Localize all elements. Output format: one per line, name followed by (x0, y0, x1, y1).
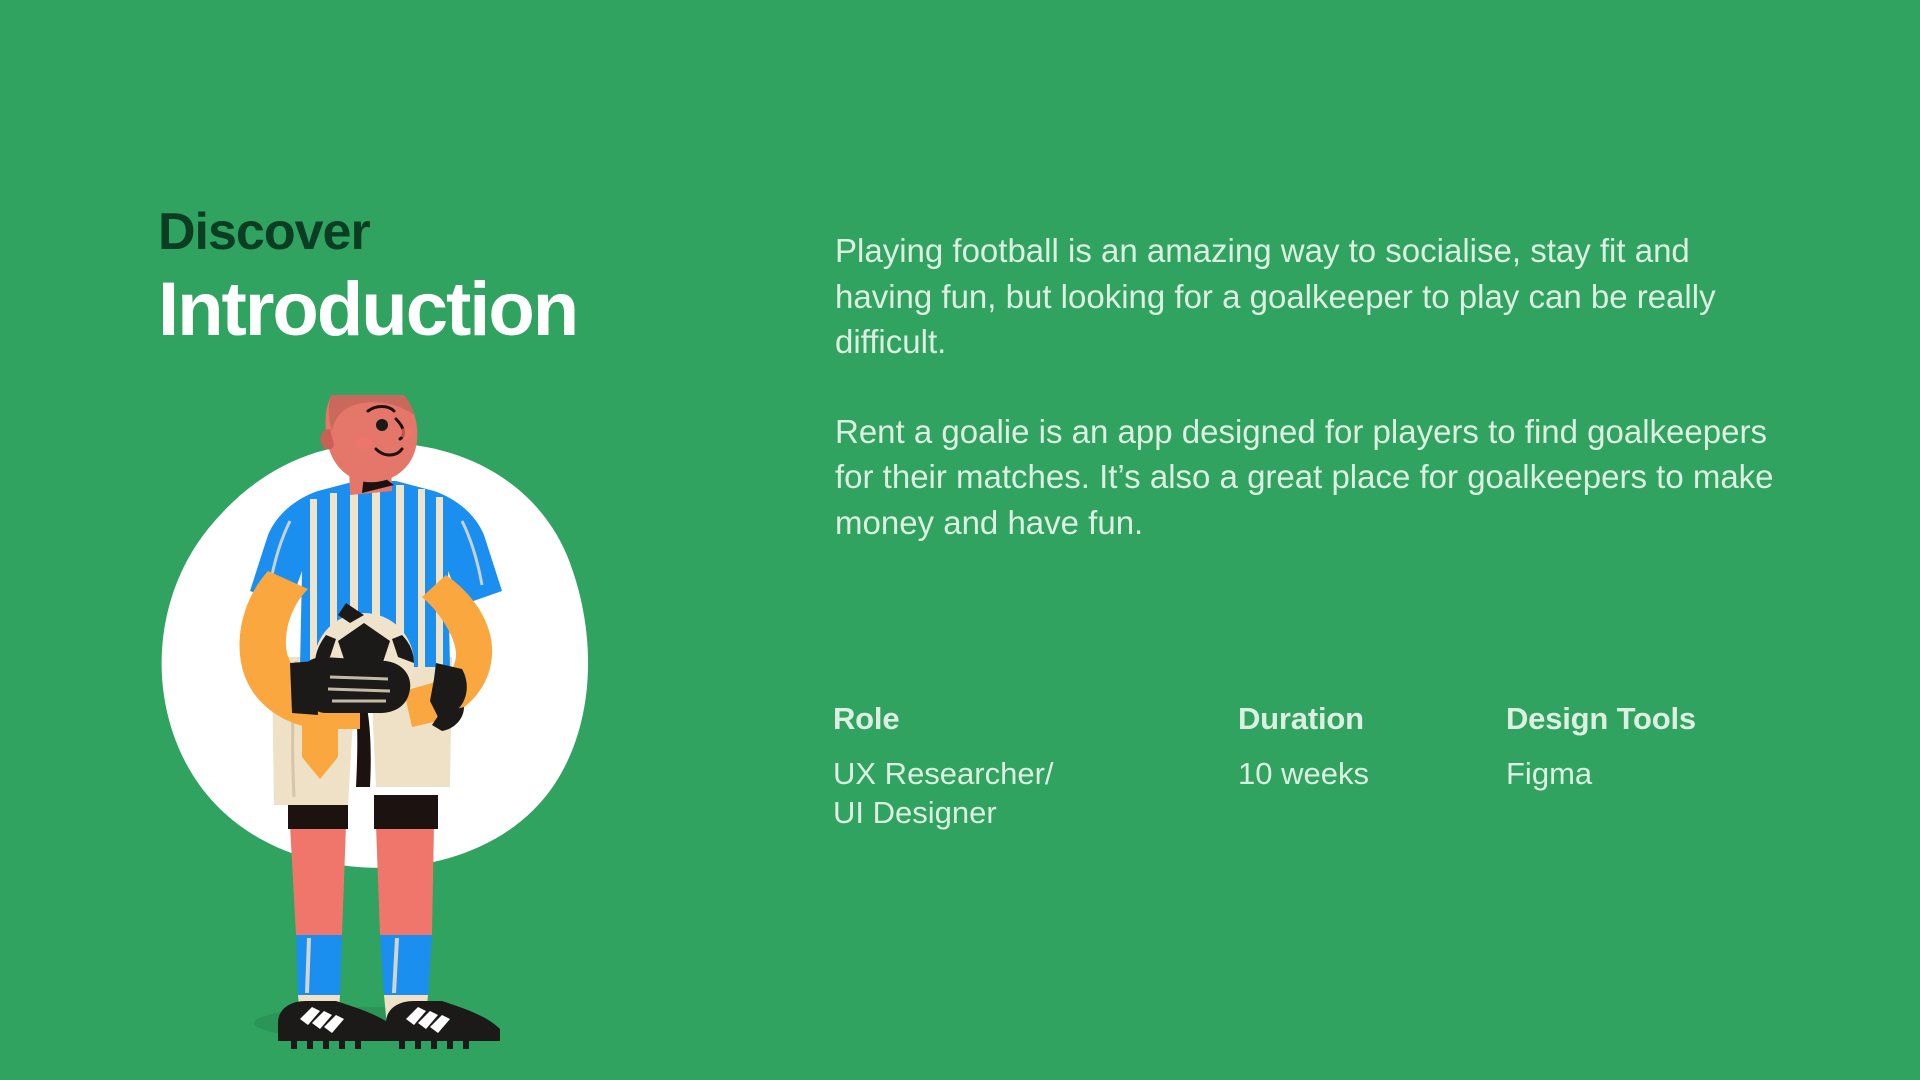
right-body-column: Playing football is an amazing way to so… (835, 228, 1795, 545)
page-title: Introduction (158, 270, 778, 351)
shorts-patch (302, 725, 338, 757)
meta-value-duration: 10 weeks (1238, 754, 1506, 794)
meta-value-design-tools: Figma (1506, 754, 1806, 794)
slide-root: Discover Introduction (0, 0, 1920, 1080)
meta-block-role: Role UX Researcher/ UI Designer (833, 700, 1238, 833)
meta-label-design-tools: Design Tools (1506, 700, 1806, 739)
left-leg (288, 795, 348, 1027)
meta-block-design-tools: Design Tools Figma (1506, 700, 1806, 833)
section-eyebrow: Discover (158, 205, 778, 260)
intro-paragraph-1: Playing football is an amazing way to so… (835, 228, 1775, 365)
meta-value-role: UX Researcher/ UI Designer (833, 754, 1238, 833)
meta-label-role: Role (833, 700, 1238, 739)
meta-block-duration: Duration 10 weeks (1238, 700, 1506, 833)
intro-paragraph-2: Rent a goalie is an app designed for pla… (835, 409, 1775, 546)
right-leg (374, 795, 438, 1027)
right-boot (386, 1001, 500, 1049)
meta-label-duration: Duration (1238, 700, 1506, 739)
project-meta-row: Role UX Researcher/ UI Designer Duration… (833, 700, 1833, 833)
goalkeeper-illustration (150, 395, 610, 1065)
left-heading-column: Discover Introduction (158, 205, 778, 350)
left-glove (290, 657, 410, 715)
